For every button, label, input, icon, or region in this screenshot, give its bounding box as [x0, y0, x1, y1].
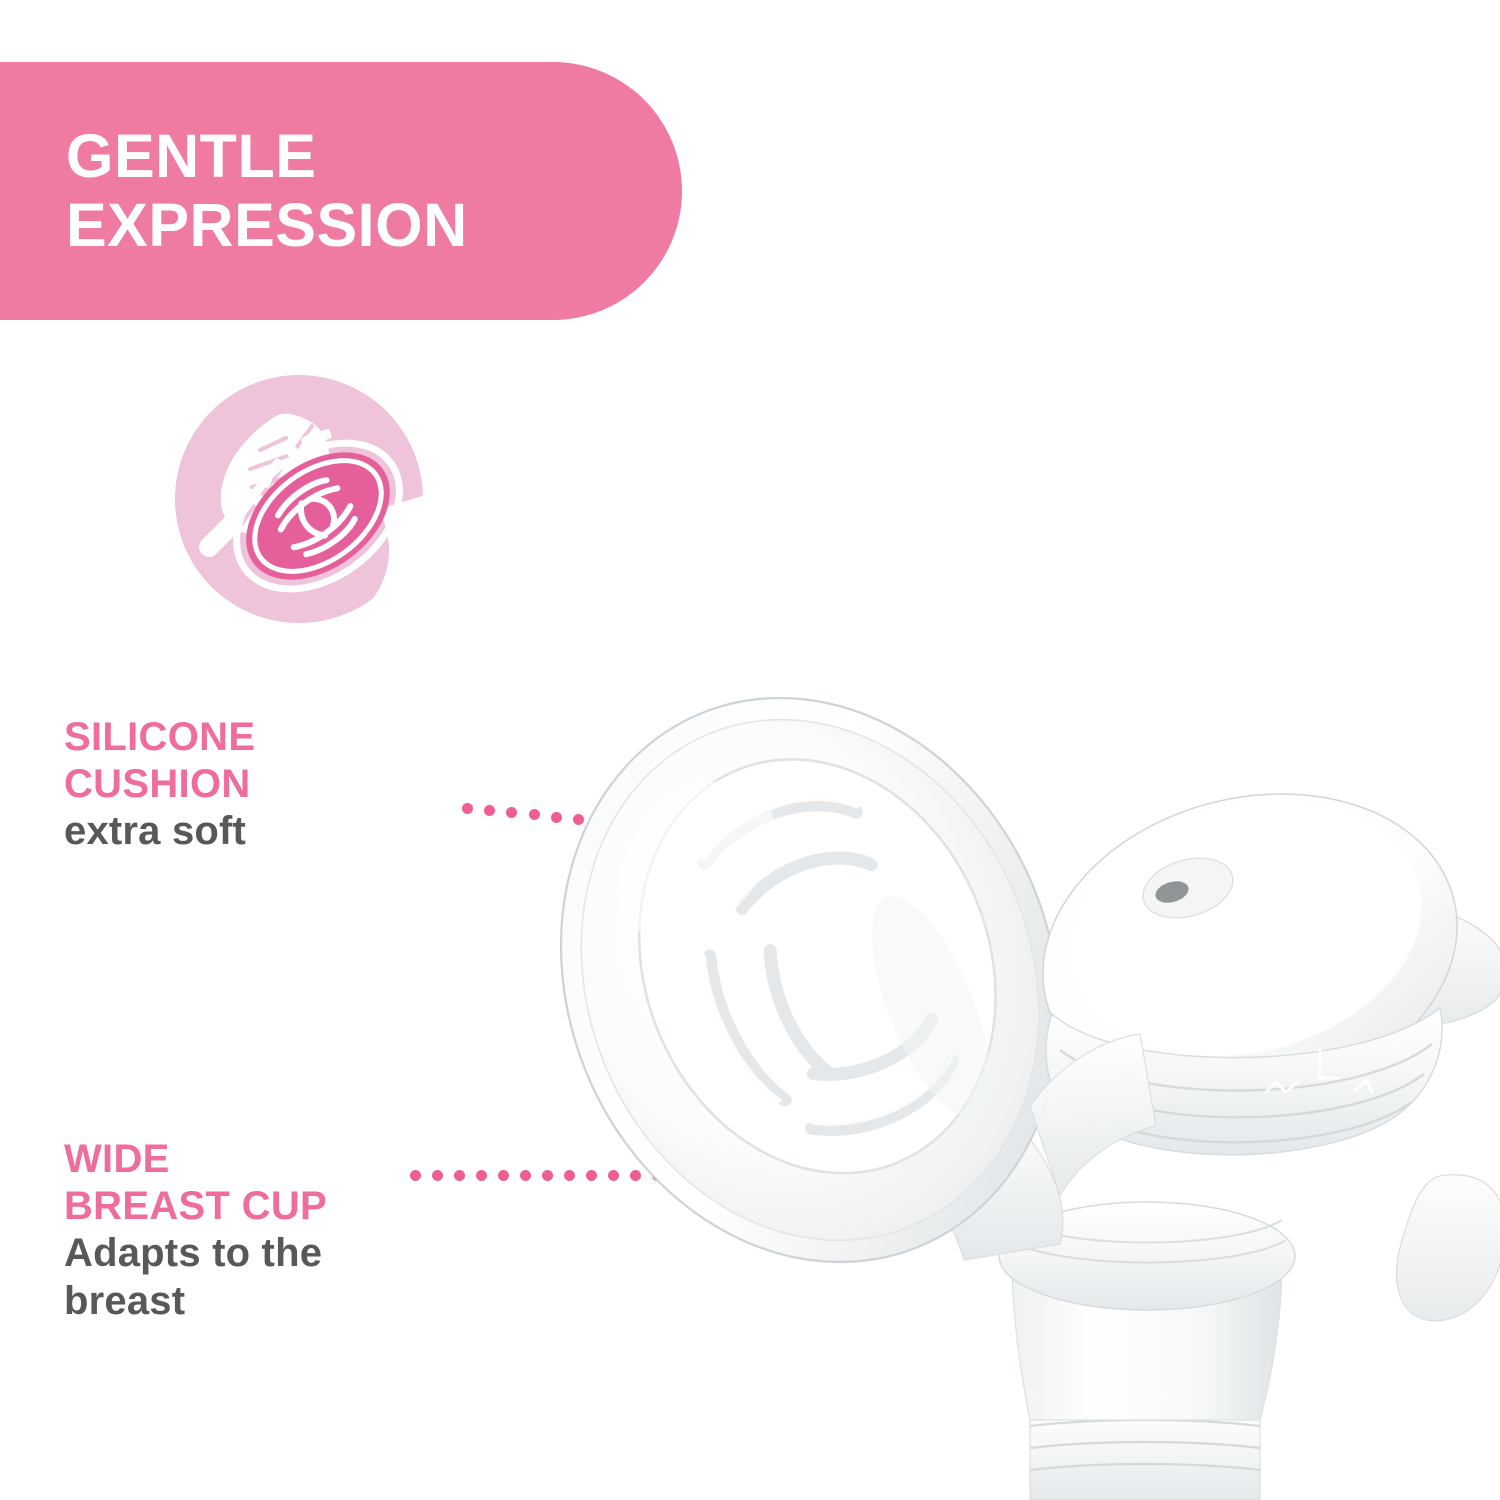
- header-banner: GENTLE EXPRESSION: [0, 62, 682, 320]
- header-title-line2: EXPRESSION: [66, 191, 682, 260]
- manual-breast-pump-photo: [560, 620, 1500, 1500]
- leader-dot: [432, 1170, 443, 1181]
- callout-wide-breast-cup: WIDE BREAST CUP Adapts to the breast: [64, 1136, 327, 1325]
- callout-title-line1: WIDE: [64, 1136, 327, 1183]
- callout-subtitle-line2: breast: [64, 1278, 327, 1325]
- leader-dot: [462, 803, 473, 814]
- leader-dot: [542, 1170, 553, 1181]
- callout-subtitle-line1: extra soft: [64, 808, 255, 855]
- leader-dot: [498, 1170, 509, 1181]
- leader-dot: [454, 1170, 465, 1181]
- callout-subtitle-line1: Adapts to the: [64, 1230, 327, 1277]
- header-title-line1: GENTLE: [66, 122, 682, 191]
- callout-title-line2: BREAST CUP: [64, 1183, 327, 1230]
- callout-silicone-cushion: SILICONE CUSHION extra soft: [64, 714, 255, 856]
- leader-dot: [506, 807, 517, 818]
- callout-title-line2: CUSHION: [64, 761, 255, 808]
- leader-dot: [484, 805, 495, 816]
- leader-dot: [529, 809, 540, 820]
- silicone-cushion-feather-badge-icon: [174, 374, 424, 624]
- leader-dot: [520, 1170, 531, 1181]
- infographic-page: GENTLE EXPRESSION: [0, 0, 1500, 1500]
- leader-dot: [476, 1170, 487, 1181]
- callout-title-line1: SILICONE: [64, 714, 255, 761]
- leader-dot: [410, 1170, 421, 1181]
